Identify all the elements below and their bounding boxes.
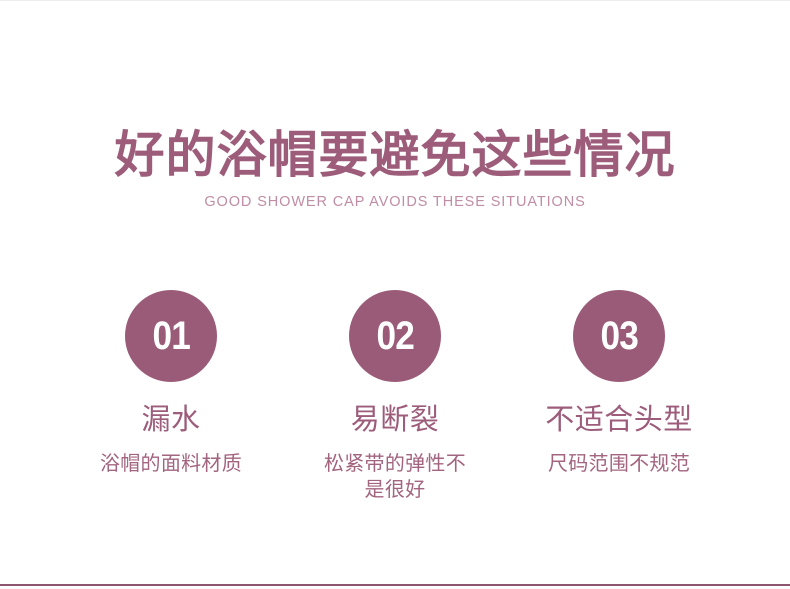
- header-block: 好的浴帽要避免这些情况 GOOD SHOWER CAP AVOIDS THESE…: [0, 126, 790, 212]
- badge-number-label: 03: [600, 316, 637, 356]
- bottom-divider: [0, 584, 790, 586]
- number-badge-03: 03: [573, 290, 665, 382]
- situation-description-02: 松紧带的弹性不是很好: [320, 451, 470, 503]
- page-title: 好的浴帽要避免这些情况: [0, 126, 790, 184]
- number-badge-02: 02: [349, 290, 441, 382]
- infographic-page: 好的浴帽要避免这些情况 GOOD SHOWER CAP AVOIDS THESE…: [0, 0, 790, 589]
- situation-heading-02: 易断裂: [351, 403, 440, 437]
- situation-item-03: 03 不适合头型 尺码范围不规范: [507, 290, 731, 477]
- situation-description-03: 尺码范围不规范: [548, 451, 690, 477]
- situation-item-02: 02 易断裂 松紧带的弹性不是很好: [283, 290, 507, 503]
- situation-description-01: 浴帽的面料材质: [100, 451, 242, 477]
- situation-heading-03: 不适合头型: [545, 403, 693, 437]
- badge-number-label: 01: [152, 316, 189, 356]
- number-badge-01: 01: [125, 290, 217, 382]
- badge-number-label: 02: [376, 316, 413, 356]
- situation-item-01: 01 漏水 浴帽的面料材质: [59, 290, 283, 477]
- top-divider: [0, 0, 790, 1]
- situation-heading-01: 漏水: [141, 403, 200, 437]
- page-subtitle: GOOD SHOWER CAP AVOIDS THESE SITUATIONS: [0, 192, 790, 212]
- situation-columns: 01 漏水 浴帽的面料材质 02 易断裂 松紧带的弹性不是很好 03 不适合头型…: [0, 290, 790, 503]
